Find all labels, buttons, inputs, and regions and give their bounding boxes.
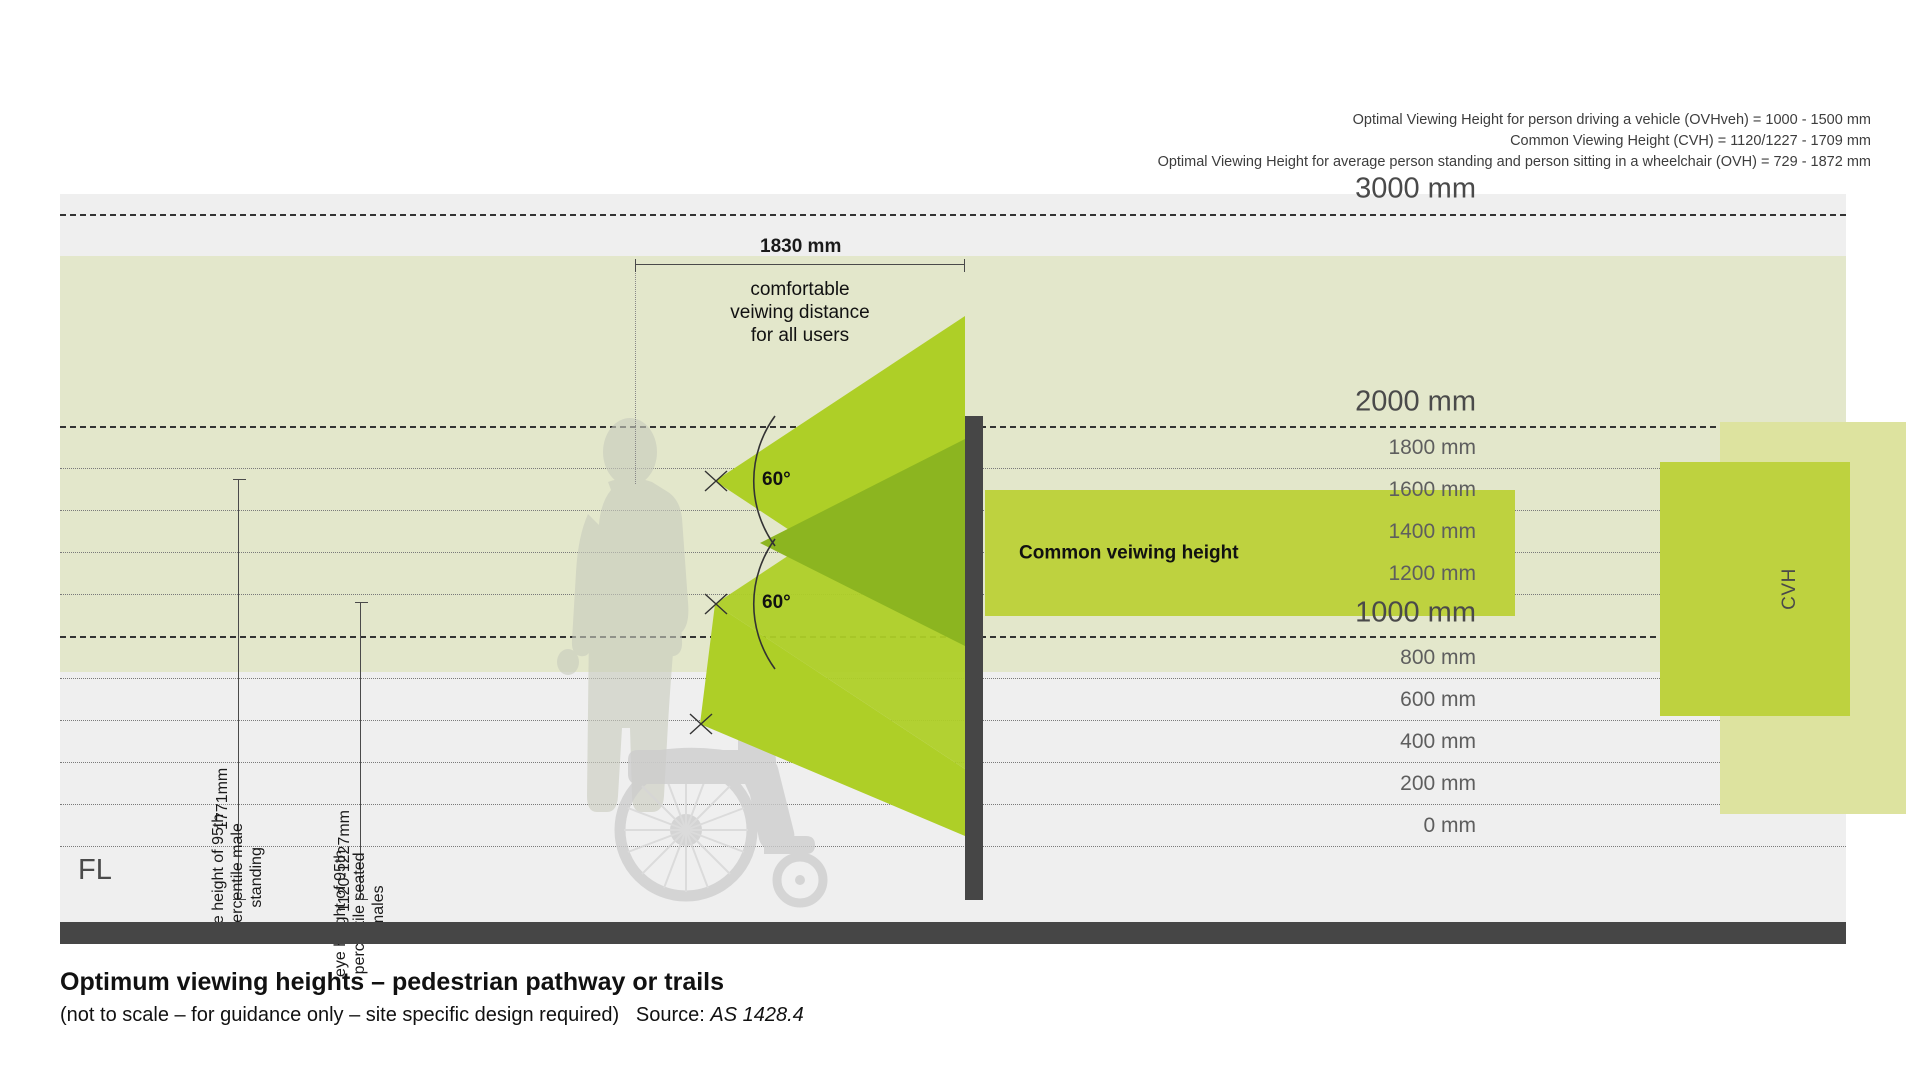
viewing-distance-value: 1830 mm — [760, 236, 841, 258]
angle-label-upper: 60° — [762, 469, 791, 491]
scale-label-1800: 1800 mm — [1388, 436, 1476, 460]
scale-label-2000: 2000 mm — [1355, 386, 1476, 419]
caption-title: Optimum viewing heights – pedestrian pat… — [60, 968, 1360, 997]
scale-label-1200: 1200 mm — [1388, 562, 1476, 586]
angle-label-lower: 60° — [762, 592, 791, 614]
scale-label-1400: 1400 mm — [1388, 520, 1476, 544]
cvh-band-label: CVH — [1779, 568, 1801, 610]
scale-label-600: 600 mm — [1400, 688, 1476, 712]
scale-label-0: 0 mm — [1424, 814, 1477, 838]
caption-source-label: Source: — [636, 1004, 705, 1026]
header-note-ovhveh: Optimal Viewing Height for person drivin… — [1158, 110, 1871, 131]
header-note-ovh: Optimal Viewing Height for average perso… — [1158, 152, 1871, 173]
scale-label-1600: 1600 mm — [1388, 478, 1476, 502]
common-viewing-height-label: Common veiwing height — [1019, 542, 1239, 565]
header-note-cvh: Common Viewing Height (CVH) = 1120/1227 … — [1158, 131, 1871, 152]
viewing-distance-caption: comfortableveiwing distancefor all users — [680, 278, 920, 347]
scale-label-800: 800 mm — [1400, 646, 1476, 670]
figure-caption: Optimum viewing heights – pedestrian pat… — [60, 968, 1360, 1027]
viewing-height-diagram: 60° 60° Common veiwing height 1830 mm co… — [60, 194, 1846, 944]
dim-guide-left — [635, 264, 636, 484]
scale-label-3000: 3000 mm — [1355, 173, 1476, 206]
seated-eye-height-caption: eye height of 95th percentile seated fem… — [331, 850, 388, 977]
scale-label-200: 200 mm — [1400, 772, 1476, 796]
header-notes: Optimal Viewing Height for person drivin… — [1158, 110, 1871, 173]
floor-level-label: FL — [78, 854, 112, 887]
caption-subtitle: (not to scale – for guidance only – site… — [60, 1004, 1360, 1027]
caption-source-value: AS 1428.4 — [710, 1004, 803, 1026]
viewing-distance-dimension-line — [635, 264, 965, 265]
scale-label-1000: 1000 mm — [1355, 597, 1476, 630]
caption-subtitle-text: (not to scale – for guidance only – site… — [60, 1004, 619, 1026]
viewing-cones — [60, 194, 1846, 922]
scale-label-400: 400 mm — [1400, 730, 1476, 754]
floor-bar — [60, 922, 1846, 944]
cvh-vertical-band: CVH — [1660, 462, 1850, 716]
sign-panel — [965, 416, 983, 900]
